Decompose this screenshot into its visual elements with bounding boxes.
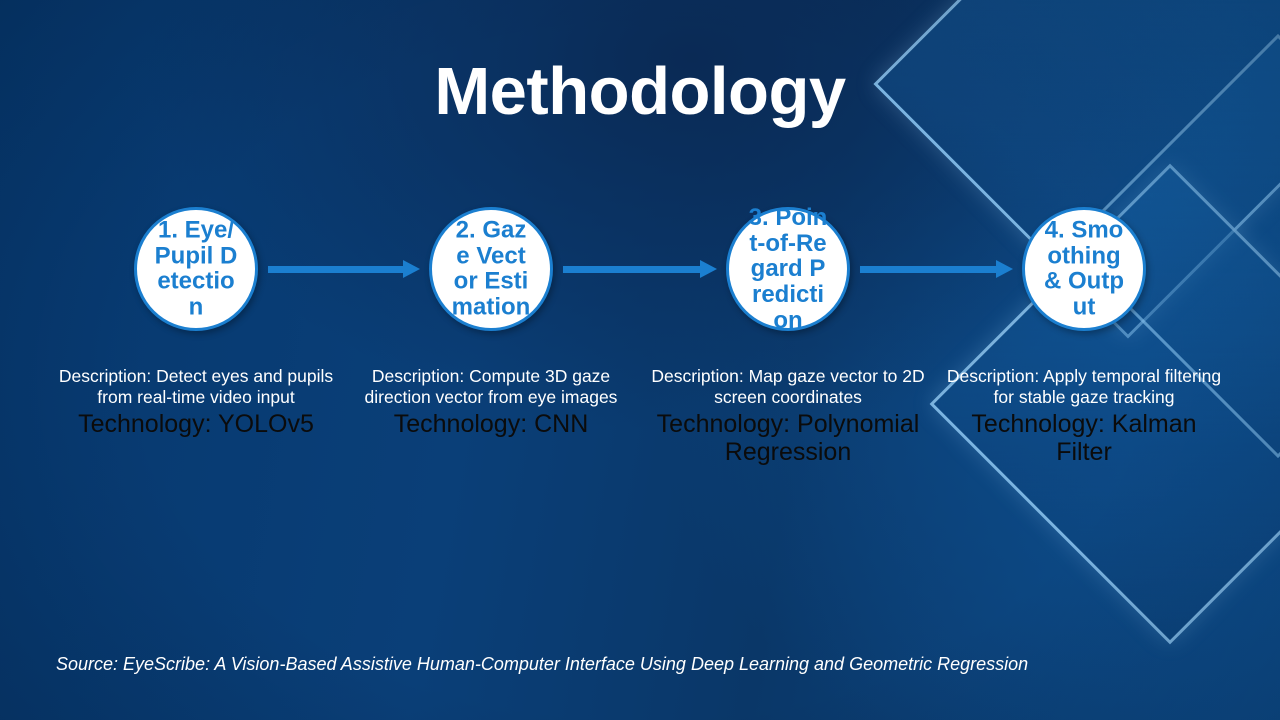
process-node-3[interactable]: 3. Point-of-Regard Prediction: [726, 207, 850, 331]
arrow-right-icon-3: [860, 264, 1013, 274]
process-node-2[interactable]: 2. Gaze Vector Estimation: [429, 207, 553, 331]
description-column-4: Description: Apply temporal filtering fo…: [944, 366, 1224, 467]
step-1-technology: Technology: YOLOv5: [56, 410, 336, 439]
arrow-right-icon-1: [268, 264, 420, 274]
process-node-1[interactable]: 1. Eye/Pupil Detection: [134, 207, 258, 331]
process-node-4[interactable]: 4. Smoothing & Output: [1022, 207, 1146, 331]
process-node-4-label: 4. Smoothing & Output: [1042, 218, 1126, 321]
arrow-head: [700, 260, 717, 278]
description-column-3: Description: Map gaze vector to 2D scree…: [648, 366, 928, 467]
step-3-technology: Technology: Polynomial Regression: [648, 410, 928, 468]
arrow-shaft: [860, 266, 997, 273]
arrow-head: [996, 260, 1013, 278]
description-column-2: Description: Compute 3D gaze direction v…: [351, 366, 631, 438]
arrow-head: [403, 260, 420, 278]
methodology-slide: Methodology 1. Eye/Pupil Detection 2. Ga…: [0, 0, 1280, 720]
step-2-description: Description: Compute 3D gaze direction v…: [351, 366, 631, 409]
process-flow: 1. Eye/Pupil Detection 2. Gaze Vector Es…: [0, 207, 1280, 333]
step-1-description: Description: Detect eyes and pupils from…: [56, 366, 336, 409]
description-column-1: Description: Detect eyes and pupils from…: [56, 366, 336, 438]
page-title: Methodology: [0, 58, 1280, 125]
step-4-technology: Technology: Kalman Filter: [944, 410, 1224, 468]
step-4-description: Description: Apply temporal filtering fo…: [944, 366, 1224, 409]
arrow-shaft: [563, 266, 701, 273]
step-3-description: Description: Map gaze vector to 2D scree…: [648, 366, 928, 409]
arrow-right-icon-2: [563, 264, 717, 274]
process-node-2-label: 2. Gaze Vector Estimation: [449, 218, 533, 321]
process-node-1-label: 1. Eye/Pupil Detection: [154, 218, 238, 321]
source-citation: Source: EyeScribe: A Vision-Based Assist…: [56, 652, 1036, 676]
process-node-3-label: 3. Point-of-Regard Prediction: [746, 205, 830, 333]
step-2-technology: Technology: CNN: [351, 410, 631, 439]
arrow-shaft: [268, 266, 404, 273]
